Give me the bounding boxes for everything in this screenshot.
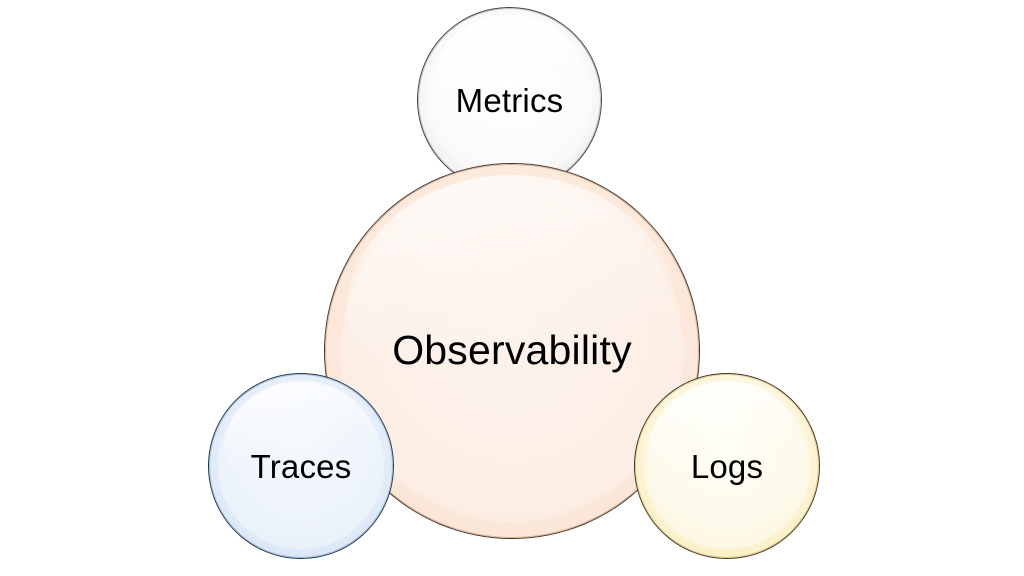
circle-metrics-label: Metrics	[456, 82, 564, 120]
circle-traces[interactable]: Traces	[209, 374, 393, 558]
circle-observability-label: Observability	[392, 327, 632, 374]
circle-logs[interactable]: Logs	[635, 374, 819, 558]
circle-logs-label: Logs	[691, 448, 763, 486]
diagram-canvas: Metrics Observability Traces Logs	[0, 0, 1024, 576]
circle-traces-label: Traces	[251, 448, 352, 486]
